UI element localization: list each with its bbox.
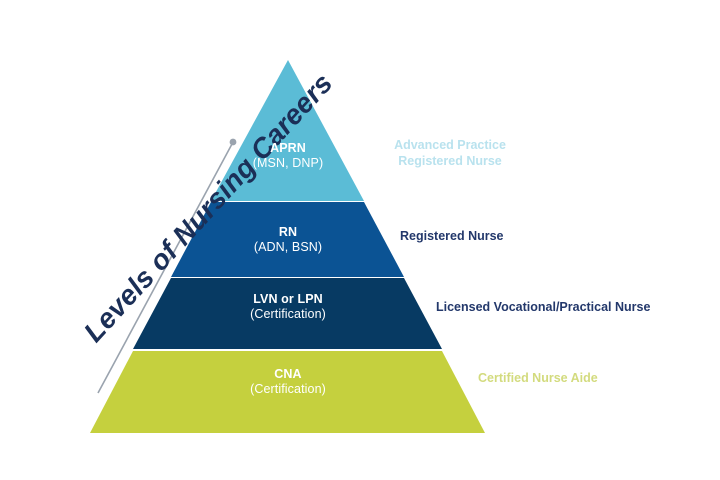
pyramid-tier-aprn[interactable] [211, 60, 364, 201]
pyramid-tier-rn[interactable] [171, 202, 404, 277]
diagram-canvas: Levels of Nursing Careers APRN (MSN, DNP… [0, 0, 720, 480]
pyramid-tier-lvn[interactable] [133, 278, 442, 349]
pyramid-tier-cna[interactable] [90, 351, 485, 433]
nursing-careers-pyramid [0, 0, 720, 480]
